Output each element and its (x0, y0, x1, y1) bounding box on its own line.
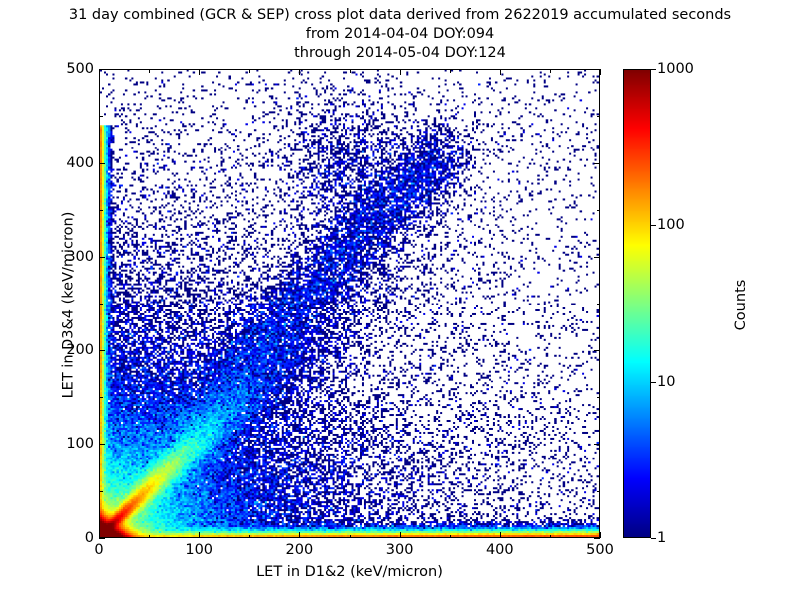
y-tick-minor-right (597, 397, 601, 398)
colorbar-gradient (624, 70, 650, 537)
colorbar-tick (651, 69, 656, 70)
x-tick-label: 200 (264, 543, 334, 557)
x-tick-major-top (600, 69, 601, 75)
colorbar-tick-label: 10 (657, 375, 675, 389)
y-tick-minor (99, 304, 103, 305)
y-tick-major-right (594, 350, 600, 351)
y-tick-minor-right (597, 116, 601, 117)
colorbar-tick-label: 1000 (657, 62, 694, 76)
plot-area (99, 69, 600, 538)
x-tick-major (400, 532, 401, 538)
x-tick-label: 400 (465, 543, 535, 557)
x-tick-major (500, 532, 501, 538)
y-tick-minor-right (597, 491, 601, 492)
colorbar-tick (651, 225, 656, 226)
y-tick-minor-right (597, 210, 601, 211)
y-tick-minor (99, 491, 103, 492)
x-tick-major (299, 532, 300, 538)
y-tick-major-right (594, 257, 600, 258)
x-tick-minor-top (350, 69, 351, 73)
x-tick-label: 500 (565, 543, 635, 557)
x-tick-label: 300 (365, 543, 435, 557)
x-axis-title: LET in D1&2 (keV/micron) (99, 564, 600, 580)
density-scatter-plot (100, 70, 599, 537)
x-tick-minor-top (550, 69, 551, 73)
x-tick-minor-top (249, 69, 250, 73)
x-tick-major (600, 532, 601, 538)
x-tick-label: 0 (64, 543, 134, 557)
x-tick-minor (450, 535, 451, 539)
chart-title: 31 day combined (GCR & SEP) cross plot d… (0, 6, 800, 63)
y-tick-minor (99, 210, 103, 211)
y-tick-major-right (594, 444, 600, 445)
x-tick-minor (550, 535, 551, 539)
x-tick-label: 100 (164, 543, 234, 557)
y-axis-title: LET in D3&4 (keV/micron) (61, 71, 77, 540)
y-tick-major (99, 257, 105, 258)
x-tick-minor-top (149, 69, 150, 73)
y-tick-major (99, 350, 105, 351)
x-tick-major (199, 532, 200, 538)
x-tick-major-top (99, 69, 100, 75)
x-tick-minor-top (450, 69, 451, 73)
x-tick-major-top (299, 69, 300, 75)
x-tick-minor (249, 535, 250, 539)
colorbar-tick (651, 538, 656, 539)
x-tick-major-top (400, 69, 401, 75)
x-tick-major (99, 532, 100, 538)
colorbar-tick-label: 100 (657, 218, 685, 232)
y-tick-minor (99, 116, 103, 117)
x-tick-minor (149, 535, 150, 539)
x-tick-major-top (500, 69, 501, 75)
y-tick-minor (99, 397, 103, 398)
colorbar-tick (651, 382, 656, 383)
y-tick-major-right (594, 538, 600, 539)
x-tick-minor (350, 535, 351, 539)
colorbar-tick-label: 1 (657, 531, 666, 545)
colorbar-title: Counts (733, 155, 749, 455)
title-line-1: 31 day combined (GCR & SEP) cross plot d… (0, 6, 800, 25)
y-tick-major-right (594, 163, 600, 164)
x-tick-major-top (199, 69, 200, 75)
y-tick-major (99, 163, 105, 164)
y-tick-major (99, 444, 105, 445)
colorbar (623, 69, 651, 538)
title-line-2: from 2014-04-04 DOY:094 (0, 25, 800, 44)
y-tick-minor-right (597, 304, 601, 305)
y-tick-major (99, 538, 105, 539)
